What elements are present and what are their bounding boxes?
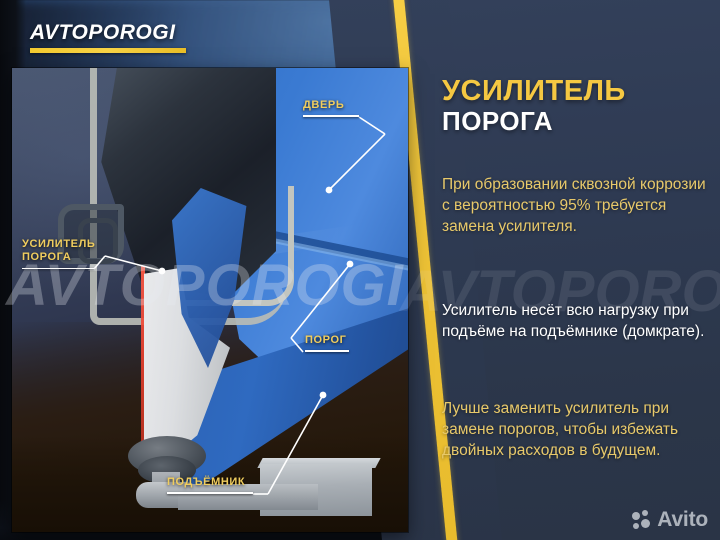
callout-porog-rule <box>305 350 349 352</box>
brand-logo[interactable]: AVTOPOROGI <box>30 22 186 53</box>
avito-watermark: Avito <box>632 508 708 532</box>
headline-line-2: ПОРОГА <box>442 107 702 136</box>
headline: УСИЛИТЕЛЬ ПОРОГА <box>442 76 702 136</box>
avito-logo-icon <box>632 510 652 530</box>
callout-dver-label: ДВЕРЬ <box>303 99 359 112</box>
callout-dver-rule <box>303 115 359 117</box>
paragraph-corrosion: При образовании сквозной коррозии с веро… <box>442 174 710 237</box>
callout-dver: ДВЕРЬ <box>303 99 359 117</box>
callout-podyomnik-rule <box>167 492 253 494</box>
callout-podyomnik-label: ПОДЪЁМНИК <box>167 476 253 489</box>
brand-logo-text: AVTOPOROGI <box>30 22 186 43</box>
callout-usilitel: УСИЛИТЕЛЬ ПОРОГА <box>22 238 95 269</box>
callout-porog: ПОРОГ <box>305 334 349 352</box>
paragraph-advice: Лучше заменить усилитель при замене поро… <box>442 398 710 461</box>
paragraph-load: Усилитель несёт всю нагрузку при подъёме… <box>442 300 710 342</box>
callout-usilitel-rule <box>22 268 94 270</box>
callout-podyomnik: ПОДЪЁМНИК <box>167 476 253 494</box>
avito-wordmark: Avito <box>657 508 708 532</box>
callout-porog-label: ПОРОГ <box>305 334 349 347</box>
callout-usilitel-label-line1: УСИЛИТЕЛЬ <box>22 238 95 251</box>
brand-logo-underline <box>30 48 186 53</box>
callout-usilitel-label-line2: ПОРОГА <box>22 251 95 264</box>
advertisement-image: AVTOPOROGI AVTOPOROGI AVTOPOROGI <box>0 0 720 540</box>
headline-line-1: УСИЛИТЕЛЬ <box>442 76 702 107</box>
